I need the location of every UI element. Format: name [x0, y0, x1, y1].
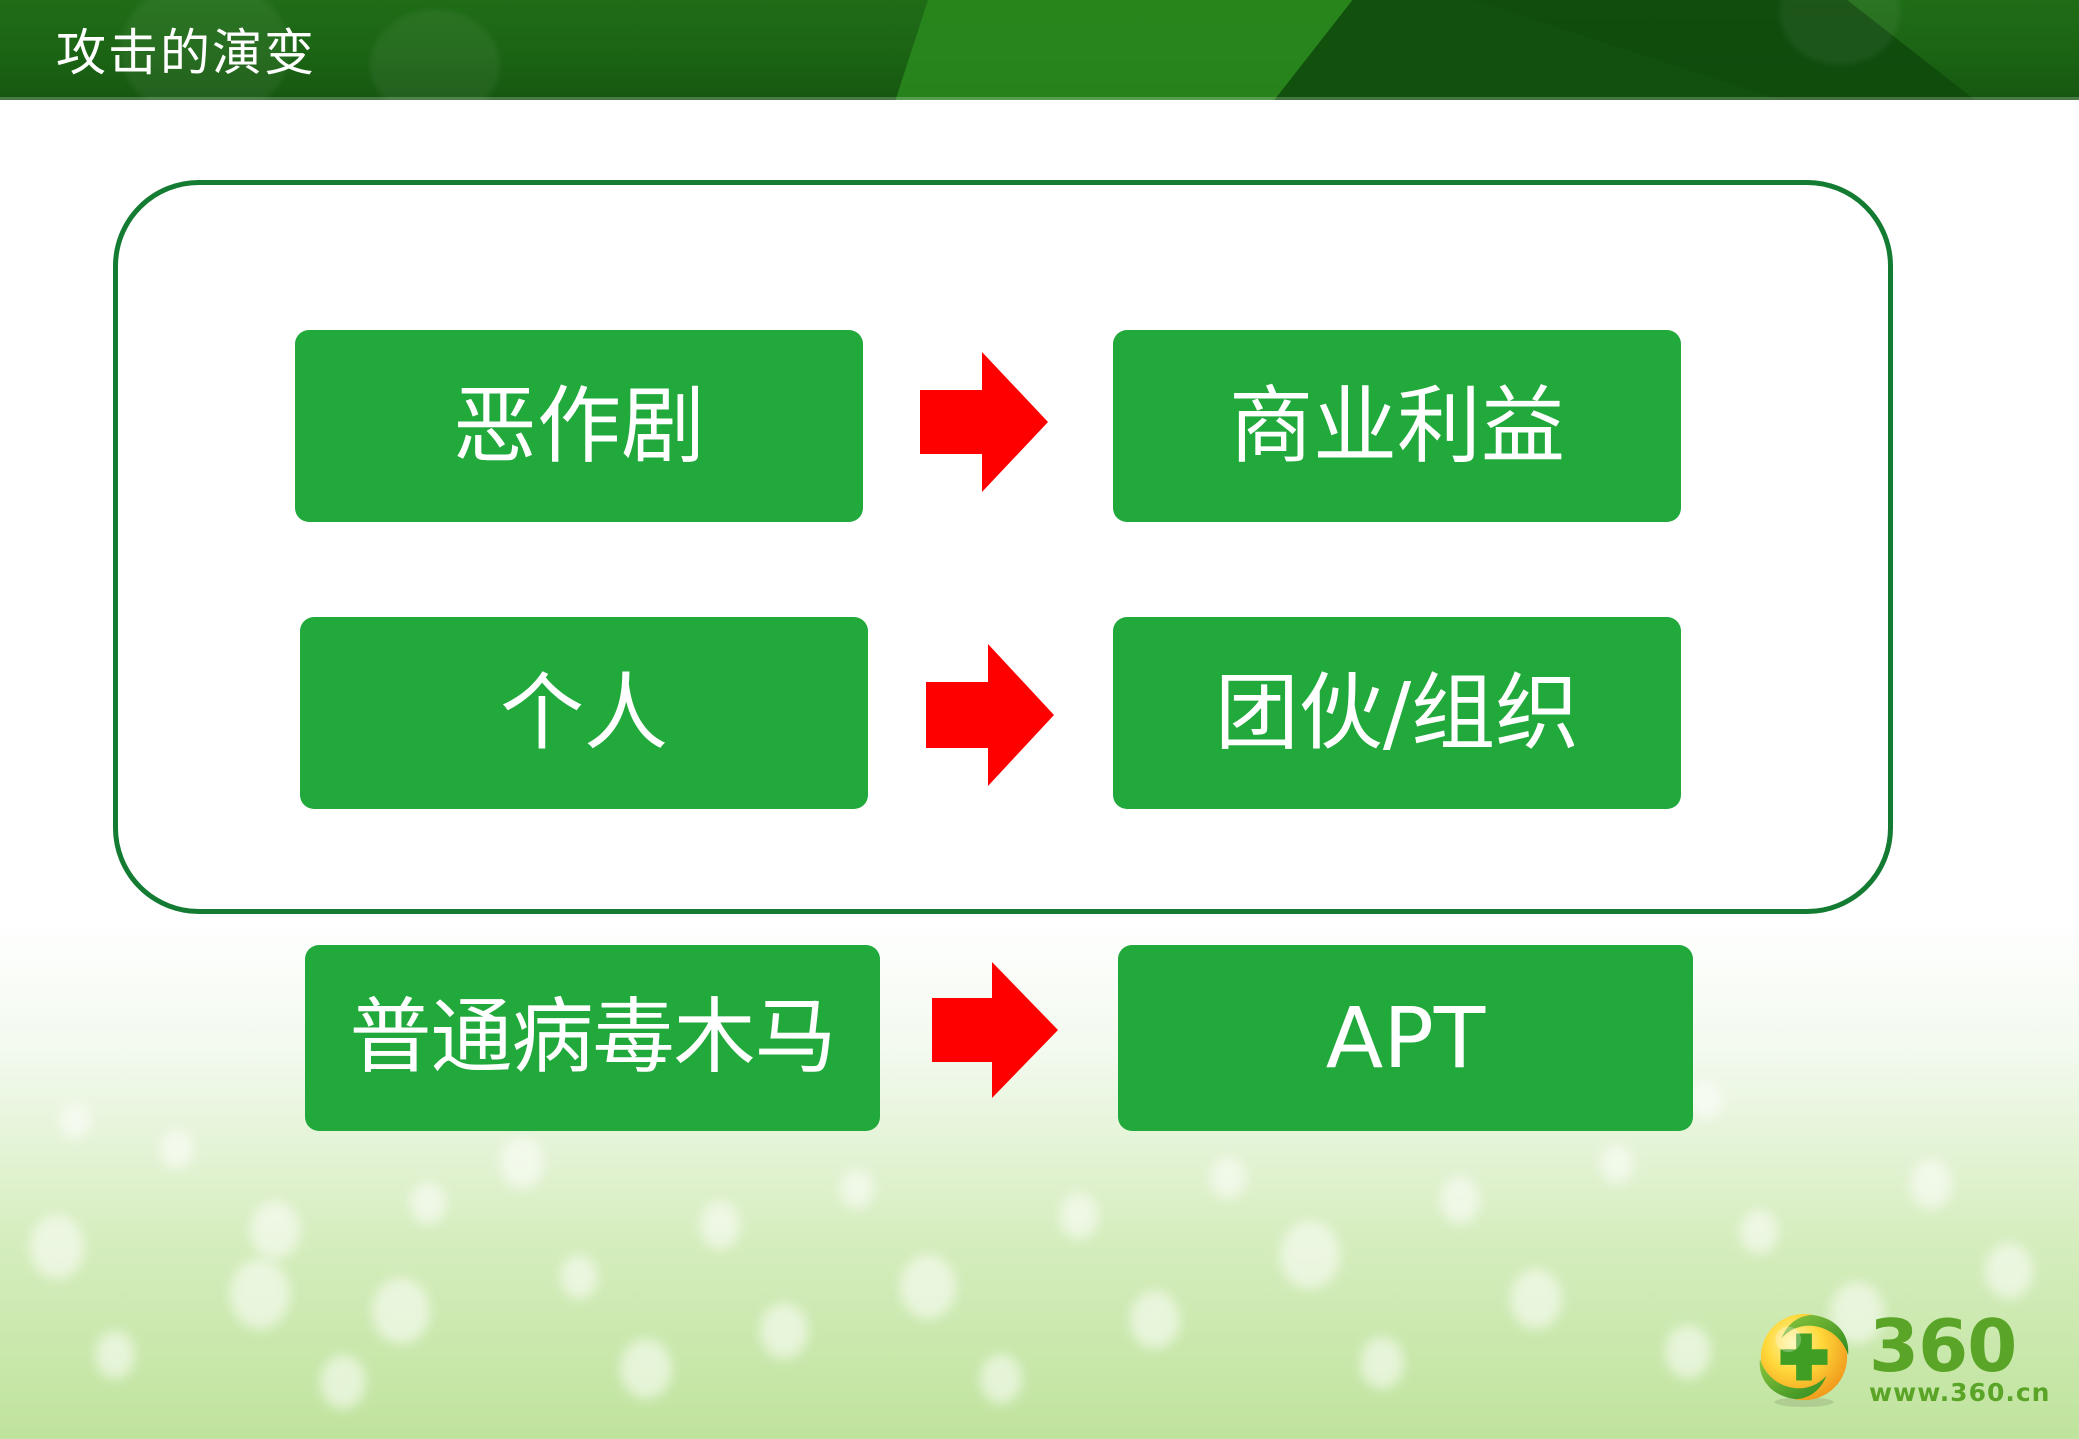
diagram-box-to-1[interactable]: 商业利益 — [1113, 330, 1681, 522]
diagram-box-from-1[interactable]: 恶作剧 — [295, 330, 863, 522]
diagram-box-to-2[interactable]: 团伙/组织 — [1113, 617, 1681, 809]
diagram-box-from-3[interactable]: 普通病毒木马 — [305, 945, 880, 1131]
diagram-box-from-1-label: 恶作剧 — [453, 384, 705, 468]
slide-root: 攻击的演变 恶作剧 商业利益 个人 团伙/组织 普通病 — [0, 0, 2079, 1439]
logo-brand-text: 360 — [1869, 1317, 2050, 1376]
header-bottom-hairline — [0, 97, 2079, 100]
header-blob — [370, 10, 500, 100]
360-orb-icon — [1755, 1310, 1853, 1408]
diagram-box-from-3-label: 普通病毒木马 — [349, 997, 835, 1079]
right-arrow-icon — [926, 644, 1054, 786]
page-title: 攻击的演变 — [56, 24, 316, 82]
diagram-box-to-3[interactable]: APT — [1118, 945, 1693, 1131]
diagram-box-to-2-label: 团伙/组织 — [1215, 671, 1579, 755]
diagram-box-from-2-label: 个人 — [500, 671, 668, 755]
right-arrow-icon — [932, 962, 1058, 1098]
right-arrow-icon — [920, 352, 1048, 492]
diagram-box-from-2[interactable]: 个人 — [300, 617, 868, 809]
brand-logo: 360 www.360.cn — [1755, 1300, 2055, 1418]
diagram-box-to-1-label: 商业利益 — [1229, 384, 1565, 468]
logo-url-text: www.360.cn — [1869, 1380, 2050, 1405]
logo-text-block: 360 www.360.cn — [1869, 1313, 2050, 1405]
diagram-box-to-3-label: APT — [1326, 996, 1485, 1080]
